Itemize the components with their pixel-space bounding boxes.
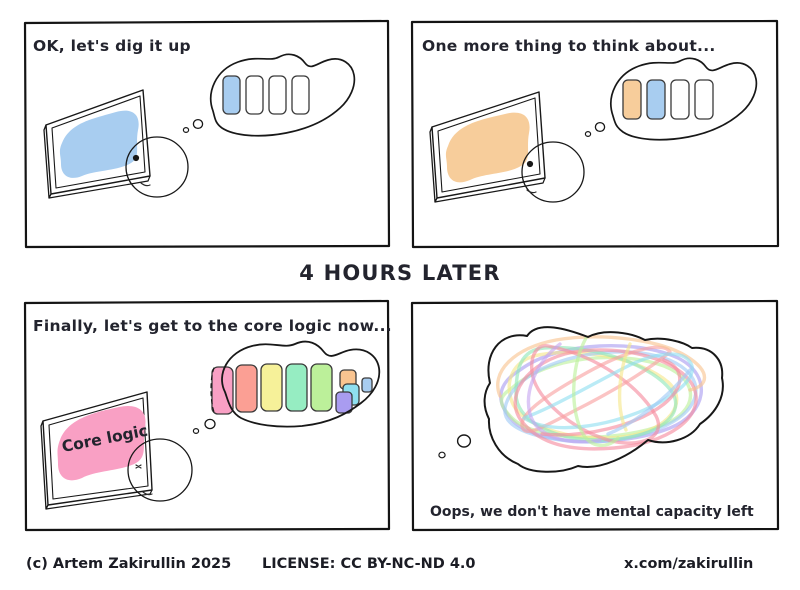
panel-1-caption: OK, let's dig it up [33,37,191,55]
brain-slot-2 [236,365,257,412]
brain-slot-4 [286,364,307,411]
head-eye [527,161,533,167]
brain-slot-4 [292,76,309,114]
brain-slot-3 [261,364,282,411]
brain-slot-2 [246,76,263,114]
brain-slot-3 [269,76,286,114]
brain-slot-5 [311,364,332,411]
panel-4-caption: Oops, we don't have mental capacity left [430,504,754,520]
panel-3-caption: Finally, let's get to the core logic now… [33,317,392,335]
footer-copyright: (c) Artem Zakirullin 2025 [26,556,231,572]
head-eye [133,155,139,161]
comic-canvas: OK, let's dig it up [0,0,800,590]
brain-slot-4 [695,80,713,119]
brain-slot-2 [647,80,665,119]
brain-slot-1 [223,76,240,114]
footer: (c) Artem Zakirullin 2025 LICENSE: CC BY… [26,556,753,572]
panel-2-caption: One more thing to think about... [422,37,716,55]
footer-handle: x.com/zakirullin [624,556,753,572]
brain-slot-1 [623,80,641,119]
footer-license: LICENSE: CC BY-NC-ND 4.0 [262,556,476,572]
brain-slot-3 [671,80,689,119]
interlude-label: 4 HOURS LATER [299,261,500,285]
overflow-block-4 [362,378,372,392]
